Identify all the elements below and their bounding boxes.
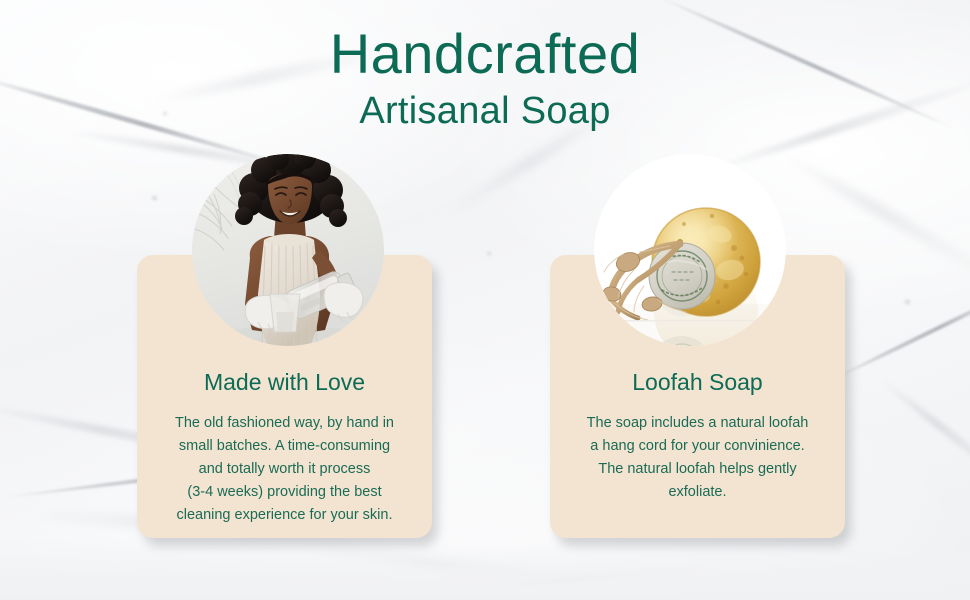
loofah-soap-illustration [594, 154, 786, 346]
page-subtitle: Artisanal Soap [0, 92, 970, 130]
page-title: Handcrafted [0, 26, 970, 82]
card-title: Loofah Soap [564, 371, 831, 394]
card-description: The old fashioned way, by hand in small … [151, 412, 418, 527]
product-feature-banner: Handcrafted Artisanal Soap Made with Lov… [0, 0, 970, 600]
bottom-fade-band [0, 538, 970, 600]
woman-pouring-soap-photo [192, 154, 384, 346]
card-description: The soap includes a natural loofah a han… [564, 412, 831, 504]
loofah-soap-bar-photo [594, 154, 786, 346]
card-title: Made with Love [151, 371, 418, 394]
banner-header: Handcrafted Artisanal Soap [0, 26, 970, 130]
woman-pouring-soap-illustration [192, 154, 384, 346]
card-body: Made with Love The old fashioned way, by… [137, 371, 432, 527]
card-body: Loofah Soap The soap includes a natural … [550, 371, 845, 504]
